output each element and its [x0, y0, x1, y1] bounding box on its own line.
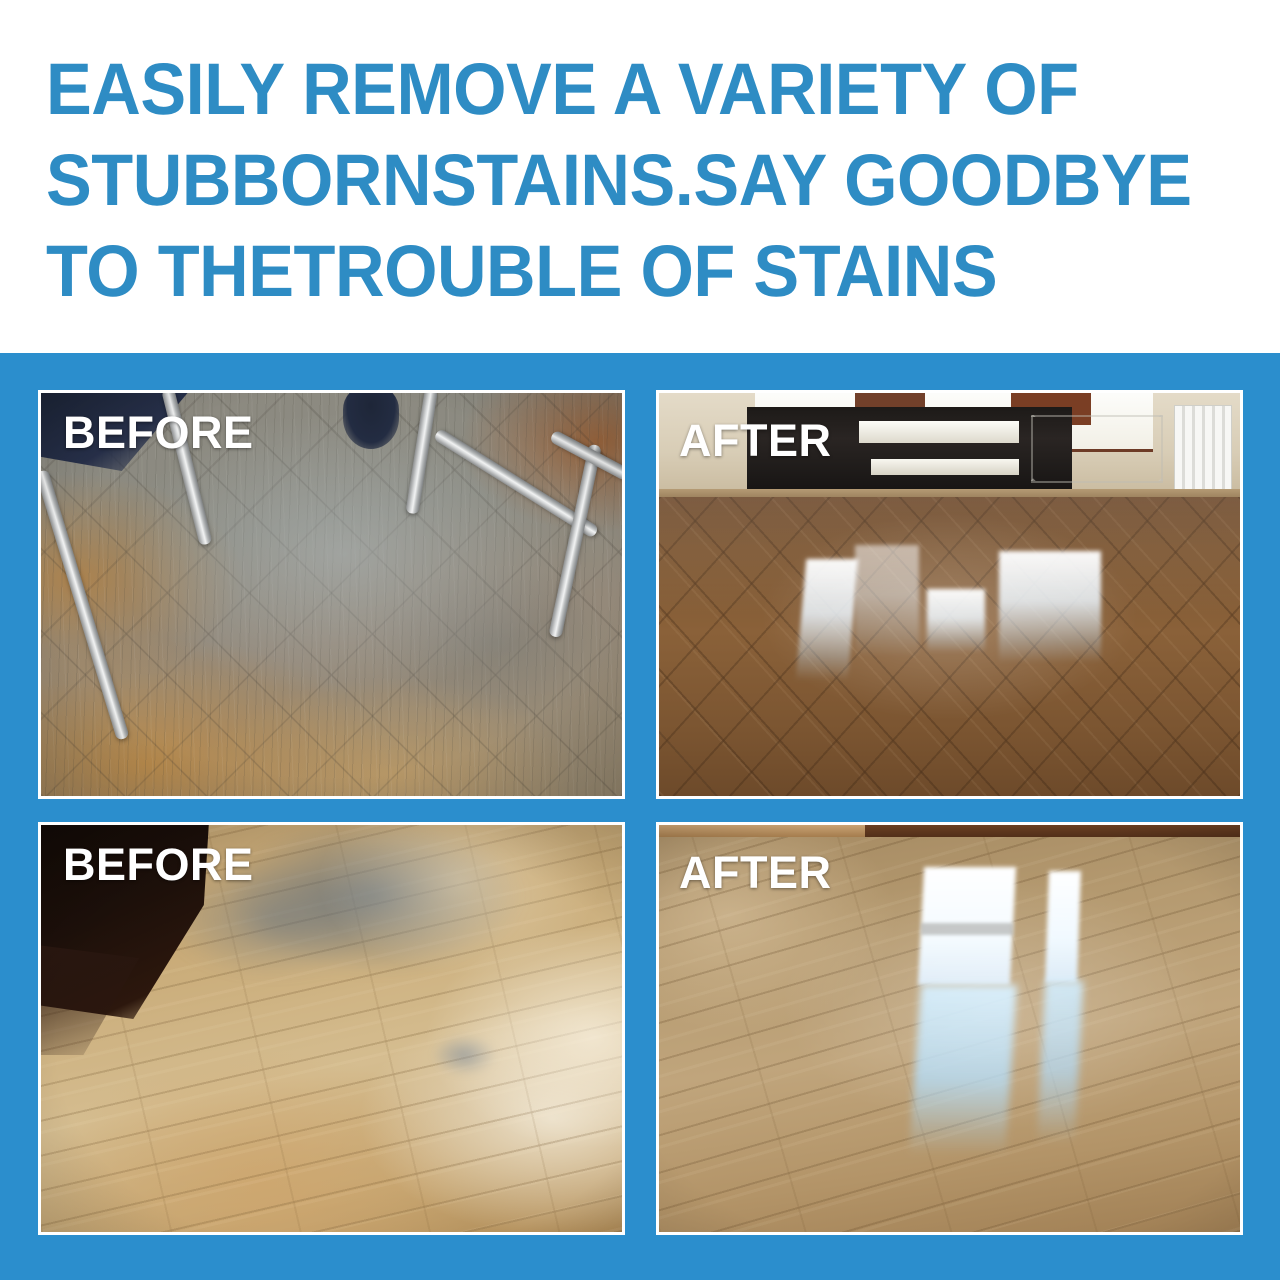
gloss-sheen [659, 497, 1240, 796]
panel-label-before: BEFORE [63, 839, 254, 891]
photo-before-parquet[interactable]: BEFORE [38, 390, 625, 799]
panel-label-after: AFTER [679, 847, 832, 899]
comparison-gallery: BEFORE [0, 353, 1280, 1280]
photo-after-strip-floor[interactable]: AFTER [656, 822, 1243, 1235]
promo-banner: EASILY REMOVE A VARIETY OF STUBBORNSTAIN… [0, 0, 1280, 1280]
sideboard-highlight [859, 421, 1019, 443]
headline-line-3: TO THETROUBLE OF STAINS [46, 226, 1168, 317]
photo-after-parquet[interactable]: AFTER [656, 390, 1243, 799]
panel-label-before: BEFORE [63, 407, 254, 459]
sideboard-highlight [871, 459, 1019, 475]
sideboard-grille [1031, 415, 1163, 483]
panel-label-after: AFTER [679, 415, 832, 467]
photo-before-strip-floor[interactable]: BEFORE [38, 822, 625, 1235]
photo-grid: BEFORE [38, 390, 1243, 1235]
headline-block: EASILY REMOVE A VARIETY OF STUBBORNSTAIN… [0, 0, 1280, 353]
headline-line-1: EASILY REMOVE A VARIETY OF [46, 44, 1168, 135]
headline-line-2: STUBBORNSTAINS.SAY GOODBYE [46, 135, 1168, 226]
